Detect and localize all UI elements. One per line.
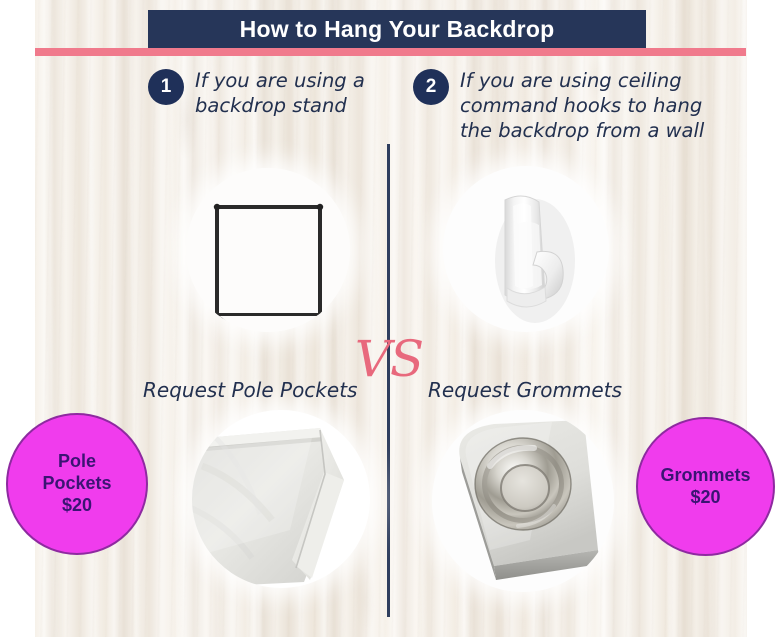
title-bar: How to Hang Your Backdrop (148, 10, 646, 48)
step-2-header: 2 If you are using ceiling command hooks… (413, 68, 723, 143)
step-2-text: If you are using ceiling command hooks t… (460, 68, 723, 143)
price-badge-pole-pockets-line2: Pockets (42, 473, 111, 495)
command-hook-photo (443, 166, 609, 332)
price-badge-pole-pockets[interactable]: Pole Pockets $20 (6, 413, 148, 555)
grommet-photo (432, 410, 614, 592)
caption-pole-pockets: Request Pole Pockets (143, 378, 357, 402)
step-1-header: 1 If you are using a backdrop stand (148, 68, 380, 118)
price-badge-grommets-line1: Grommets (660, 465, 750, 487)
infographic-canvas: How to Hang Your Backdrop 1 If you are u… (0, 0, 784, 637)
backdrop-stand-illustration (186, 168, 350, 332)
step-2-number-badge: 2 (413, 69, 449, 105)
caption-grommets: Request Grommets (428, 378, 622, 402)
step-1-number-badge: 1 (148, 69, 184, 105)
step-1-text: If you are using a backdrop stand (195, 68, 380, 118)
price-badge-grommets[interactable]: Grommets $20 (636, 417, 775, 556)
grommet-illustration (432, 410, 614, 592)
backdrop-stand-photo (186, 168, 350, 332)
pink-divider-rule (35, 48, 746, 56)
vs-label: VS (352, 331, 426, 387)
command-hook-illustration (443, 166, 609, 332)
price-badge-grommets-price: $20 (690, 487, 720, 509)
page-title: How to Hang Your Backdrop (240, 16, 555, 43)
price-badge-pole-pockets-line1: Pole (58, 451, 96, 473)
price-badge-pole-pockets-price: $20 (62, 495, 92, 517)
pole-pocket-fabric-photo (192, 410, 370, 588)
pole-pocket-illustration (192, 410, 370, 588)
